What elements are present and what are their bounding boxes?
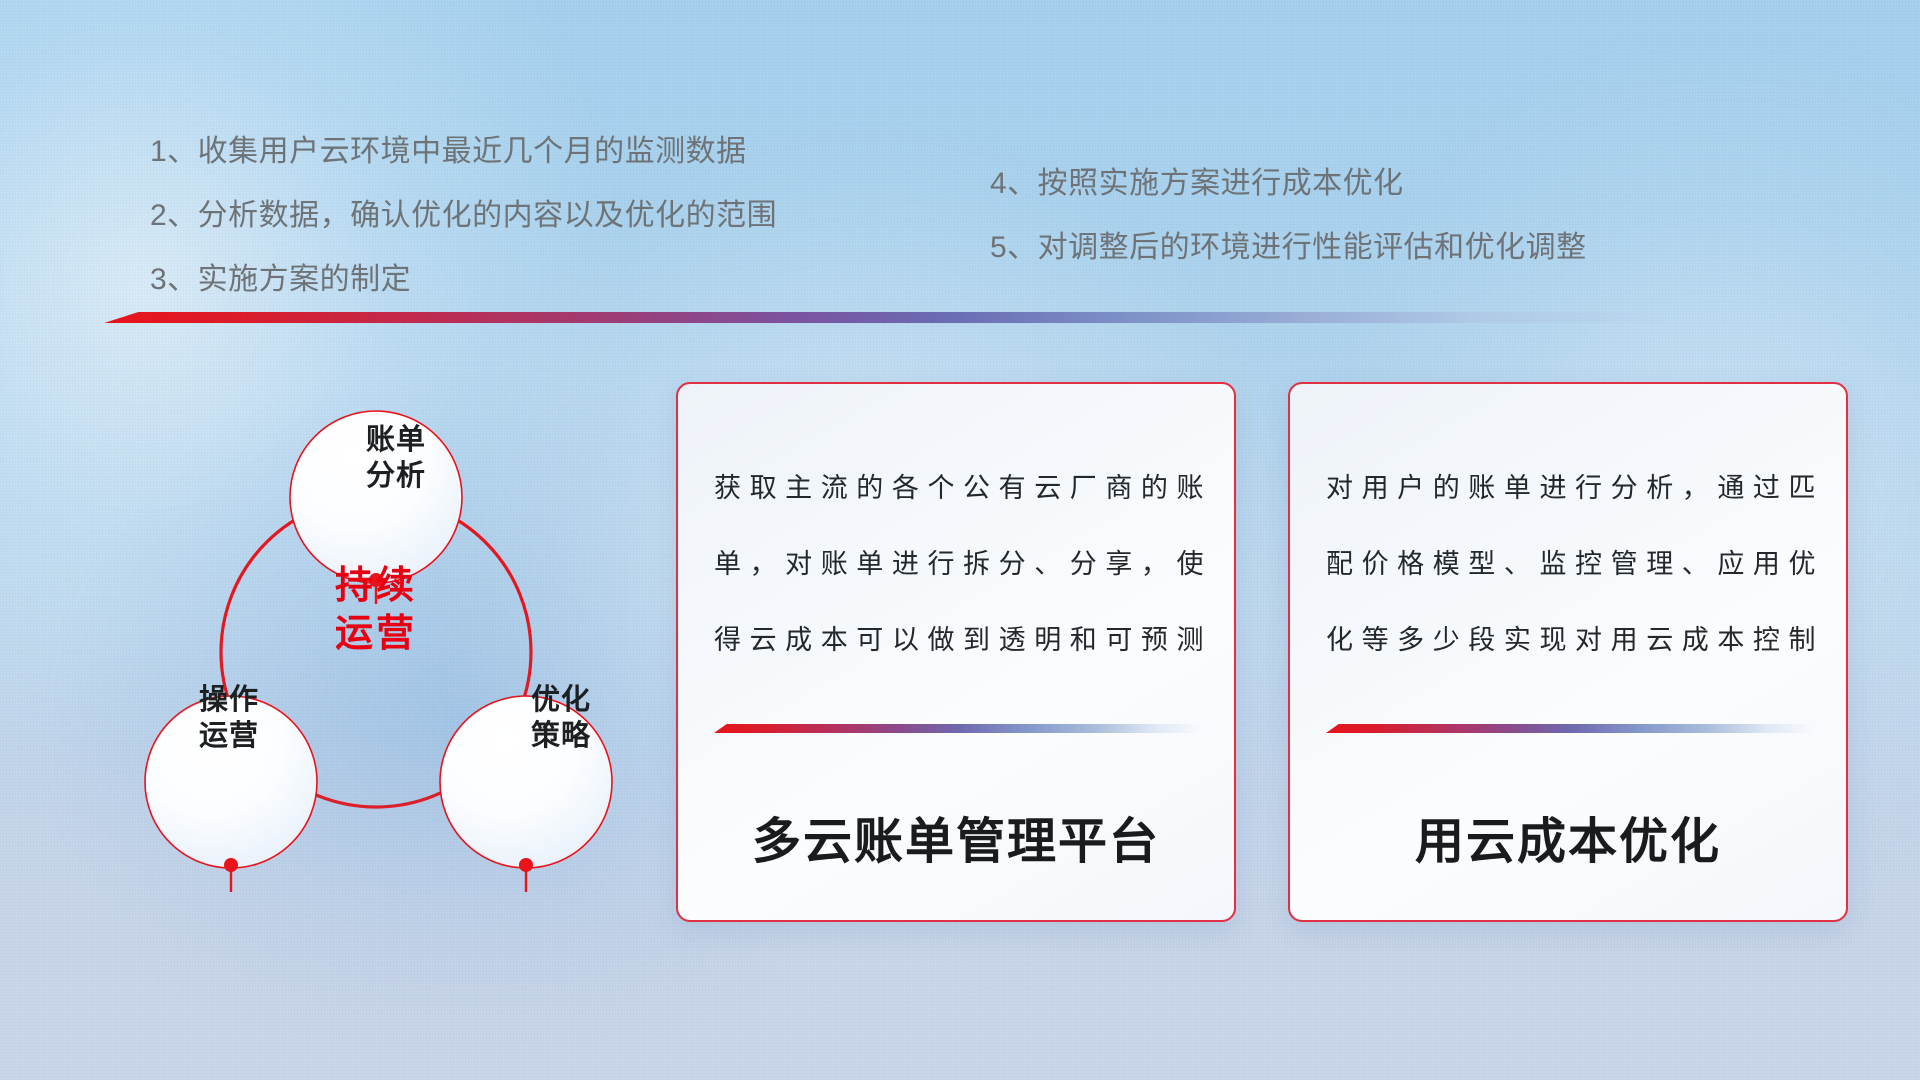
diagram-bubble-operations[interactable] xyxy=(145,696,317,868)
card-body-line-2: 单，对账单进行拆分、分享，使 xyxy=(714,526,1204,602)
process-step-4: 4、按照实施方案进行成本优化 xyxy=(990,152,1587,216)
card-title: 多云账单管理平台 xyxy=(678,802,1234,873)
card-divider-line xyxy=(1326,724,1814,733)
card-cloud-cost-optimization[interactable]: 对用户的账单进行分析，通过匹 配价格模型、监控管理、应用优 化等多少段实现对用云… xyxy=(1288,382,1848,922)
card-body: 获取主流的各个公有云厂商的账 单，对账单进行拆分、分享，使 得云成本可以做到透明… xyxy=(714,450,1204,678)
process-steps-column-left: 1、收集用户云环境中最近几个月的监测数据 2、分析数据，确认优化的内容以及优化的… xyxy=(150,120,777,312)
diagram-bubble-optimization[interactable] xyxy=(440,696,612,868)
process-steps-list: 1、收集用户云环境中最近几个月的监测数据 2、分析数据，确认优化的内容以及优化的… xyxy=(0,0,1920,300)
continuous-operations-diagram: 账单 分析 操作 运营 优化 策略 持续 运营 xyxy=(96,352,656,952)
card-body-line-2: 配价格模型、监控管理、应用优 xyxy=(1326,526,1816,602)
process-step-1: 1、收集用户云环境中最近几个月的监测数据 xyxy=(150,120,777,184)
section-divider-bar xyxy=(104,312,1669,323)
process-step-5: 5、对调整后的环境进行性能评估和优化调整 xyxy=(990,216,1587,280)
diagram-svg xyxy=(96,352,656,952)
card-body-line-3: 得云成本可以做到透明和可预测 xyxy=(714,602,1204,678)
card-body-line-1: 对用户的账单进行分析，通过匹 xyxy=(1326,450,1816,526)
card-divider-line xyxy=(714,724,1202,733)
process-steps-column-right: 4、按照实施方案进行成本优化 5、对调整后的环境进行性能评估和优化调整 xyxy=(990,152,1587,280)
diagram-node-right xyxy=(519,858,533,872)
diagram-node-top xyxy=(369,573,383,587)
section-divider-line xyxy=(104,312,1669,323)
diagram-bubble-bill-analysis[interactable] xyxy=(290,411,462,583)
card-body-line-1: 获取主流的各个公有云厂商的账 xyxy=(714,450,1204,526)
card-title: 用云成本优化 xyxy=(1290,802,1846,873)
card-body-line-3: 化等多少段实现对用云成本控制 xyxy=(1326,602,1816,678)
card-body: 对用户的账单进行分析，通过匹 配价格模型、监控管理、应用优 化等多少段实现对用云… xyxy=(1326,450,1816,678)
process-step-3: 3、实施方案的制定 xyxy=(150,248,777,312)
process-step-2: 2、分析数据，确认优化的内容以及优化的范围 xyxy=(150,184,777,248)
card-multi-cloud-billing-platform[interactable]: 获取主流的各个公有云厂商的账 单，对账单进行拆分、分享，使 得云成本可以做到透明… xyxy=(676,382,1236,922)
diagram-node-left xyxy=(224,858,238,872)
